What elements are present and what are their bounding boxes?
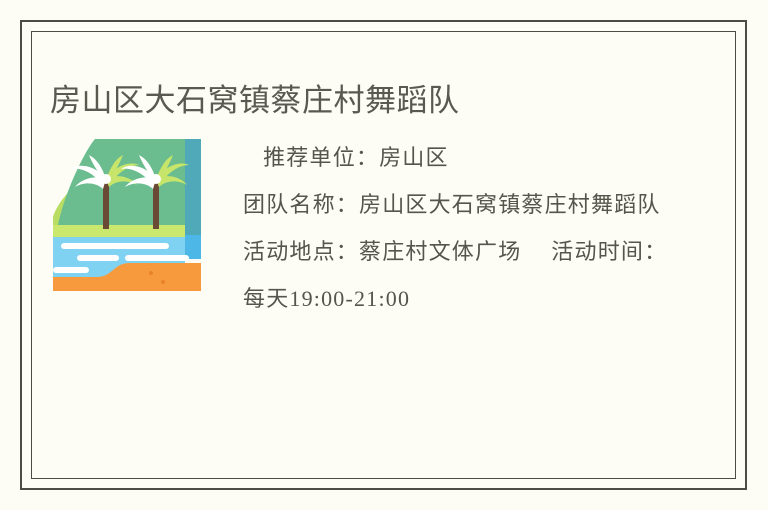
foam-line-2 [77, 255, 119, 261]
sand-dot-2 [161, 280, 165, 284]
island-beach-illustration-svg [53, 139, 201, 291]
island-right-edge-strip [185, 139, 201, 235]
island-body [57, 139, 185, 231]
page-root: 房山区大石窝镇蔡庄村舞蹈队 [0, 0, 768, 510]
outer-frame-border: 房山区大石窝镇蔡庄村舞蹈队 [20, 20, 747, 490]
foam-line-1 [61, 243, 169, 249]
card-content: 推荐单位：房山区 团队名称：房山区大石窝镇蔡庄村舞蹈队 活动地点：蔡庄村文体广场… [50, 134, 727, 478]
island-shoreline-band-left [53, 225, 57, 237]
foam-line-3 [125, 255, 189, 261]
island-shoreline-band [57, 225, 185, 237]
island-beach-palm-trees-icon [53, 139, 201, 291]
page-title: 房山区大石窝镇蔡庄村舞蹈队 [50, 79, 460, 123]
foam-line-4 [53, 267, 89, 273]
card-description: 推荐单位：房山区 团队名称：房山区大石窝镇蔡庄村舞蹈队 活动地点：蔡庄村文体广场… [243, 134, 673, 322]
sand-dot-1 [149, 271, 153, 275]
